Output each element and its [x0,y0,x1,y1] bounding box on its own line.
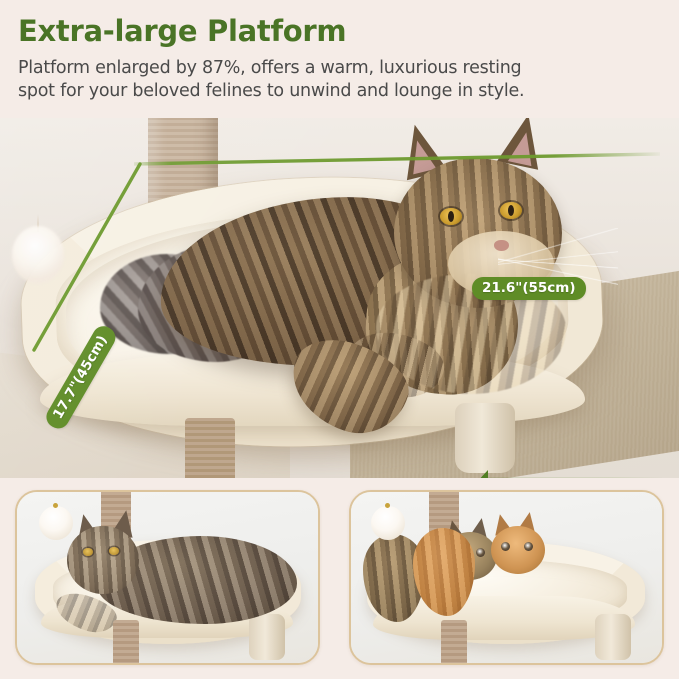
inset-left-scene [17,492,318,663]
inset-left-cat-eye-right [109,547,119,555]
inset-right-kitten-ginger-eye-left [501,542,510,551]
width-dimension-label: 21.6"(55cm) [472,277,586,300]
product-feature-image: Extra-large Platform Platform enlarged b… [0,0,679,679]
inset-right-pompom-icon [371,506,405,540]
inset-right-scene [351,492,662,663]
inset-right-kitten-ginger-head [491,526,545,574]
inset-gallery [0,480,679,679]
page-title: Extra-large Platform [18,14,658,48]
inset-right-pompom-dot [385,503,390,508]
inset-panel-right[interactable] [349,490,664,665]
hero-photo: 21.6"(55cm) 17.7"(45cm) AREA +87% [0,118,679,478]
subtitle-line-1: Platform enlarged by 87%, offers a warm,… [18,58,521,78]
inset-left-lower-post [113,620,139,663]
inset-right-platform-leg [595,614,631,660]
inset-right-kitten-tabby-eye-right [476,548,485,557]
cat-pupil-right [508,205,514,216]
header: Extra-large Platform Platform enlarged b… [18,14,658,104]
subtitle-line-2: spot for your beloved felines to unwind … [18,80,643,103]
inset-left-cat-eye-left [83,548,93,556]
inset-left-pompom-dot [53,503,58,508]
inset-left-cat-head [67,526,139,594]
hero-photo-content: 21.6"(55cm) 17.7"(45cm) AREA +87% [0,118,679,478]
page-subtitle: Platform enlarged by 87%, offers a warm,… [18,57,643,104]
inset-left-pompom-icon [39,506,73,540]
cat-pupil-left [448,211,454,222]
pompom-ball-icon [12,226,64,284]
inset-left-platform-leg [249,614,285,660]
inset-right-kitten-ginger-eye-right [524,542,533,551]
inset-panel-left[interactable] [15,490,320,665]
inset-right-lower-post [441,620,467,663]
